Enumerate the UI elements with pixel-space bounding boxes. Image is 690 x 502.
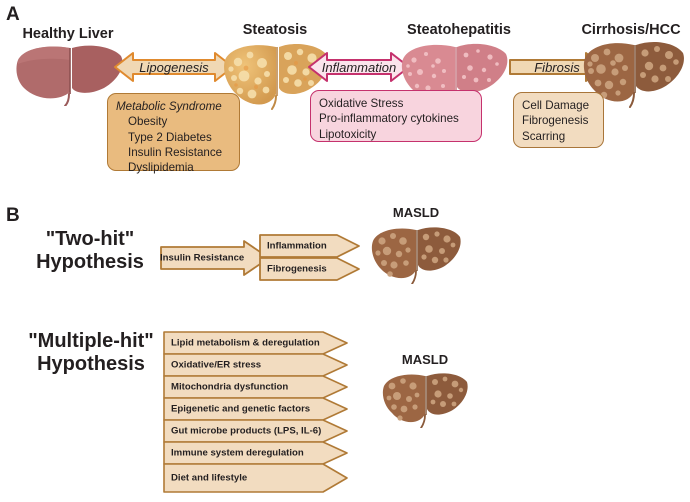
arrow-lipogenesis: Lipogenesis <box>113 50 235 84</box>
multiple-hit-arrow: Oxidative/ER stress <box>163 353 348 377</box>
two-hit-outcome-label: MASLD <box>366 205 466 220</box>
multiple-hit-label: Diet and lifestyle <box>171 473 247 484</box>
inflammation-item: Oxidative Stress <box>319 96 473 111</box>
metabolic-syndrome-item: Insulin Resistance <box>116 145 231 160</box>
multiple-hit-arrow: Immune system deregulation <box>163 441 348 465</box>
multiple-hit-label-line2: Hypothesis <box>12 353 170 376</box>
two-hit-label-line1: "Two-hit" <box>20 228 160 251</box>
multiple-hit-label-line1: "Multiple-hit" <box>12 330 170 353</box>
fibrosis-item: Scarring <box>522 129 595 144</box>
metabolic-syndrome-item: Dyslipidemia <box>116 160 231 175</box>
arrow-fibrosis-label: Fibrosis <box>534 60 580 75</box>
arrow-inflammation-label: Inflammation <box>322 60 396 75</box>
panel-b-letter: B <box>6 205 20 227</box>
stage-title-steatosis: Steatosis <box>215 22 335 38</box>
multiple-hit-label: Epigenetic and genetic factors <box>171 404 310 415</box>
inflammation-item: Pro-inflammatory cytokines <box>319 111 473 126</box>
multiple-hit-label: Lipid metabolism & deregulation <box>171 338 320 349</box>
multiple-hit-label: Oxidative/ER stress <box>171 360 261 371</box>
two-hit-second-label: Inflammation <box>267 241 327 252</box>
stage-title-steatohepatitis: Steatohepatitis <box>389 22 529 38</box>
multiple-hit-arrow: Mitochondria dysfunction <box>163 375 348 399</box>
masld-liver-image-multiple-hit <box>381 368 469 428</box>
inflammation-item: Lipotoxicity <box>319 127 473 142</box>
masld-liver-image-two-hit <box>370 222 462 284</box>
fibrosis-box: Cell Damage Fibrogenesis Scarring <box>513 92 604 148</box>
two-hit-second-label: Fibrogenesis <box>267 264 327 275</box>
arrow-inflammation: Inflammation <box>307 50 411 84</box>
metabolic-syndrome-item: Type 2 Diabetes <box>116 130 231 145</box>
arrow-lipogenesis-label: Lipogenesis <box>139 60 208 75</box>
fibrosis-item: Cell Damage <box>522 98 595 113</box>
multiple-hit-arrow: Diet and lifestyle <box>163 463 348 493</box>
two-hit-second-arrow-inflammation: Inflammation <box>259 234 360 258</box>
two-hit-first-label: Insulin Resistance <box>160 253 244 264</box>
two-hit-hypothesis-label: "Two-hit" Hypothesis <box>20 228 160 274</box>
multiple-hit-outcome-label: MASLD <box>375 352 475 367</box>
multiple-hit-hypothesis-label: "Multiple-hit" Hypothesis <box>12 330 170 376</box>
multiple-hit-label: Gut microbe products (LPS, IL-6) <box>171 426 321 437</box>
metabolic-syndrome-box: Metabolic Syndrome Obesity Type 2 Diabet… <box>107 93 240 171</box>
two-hit-first-arrow: Insulin Resistance <box>160 240 270 276</box>
multiple-hit-arrow: Epigenetic and genetic factors <box>163 397 348 421</box>
multiple-hit-label: Mitochondria dysfunction <box>171 382 288 393</box>
metabolic-syndrome-item: Obesity <box>116 114 231 129</box>
fibrosis-item: Fibrogenesis <box>522 113 595 128</box>
multiple-hit-label: Immune system deregulation <box>171 448 304 459</box>
panel-a-letter: A <box>6 4 20 26</box>
inflammation-box: Oxidative Stress Pro-inflammatory cytoki… <box>310 90 482 142</box>
two-hit-label-line2: Hypothesis <box>20 251 160 274</box>
multiple-hit-arrow: Gut microbe products (LPS, IL-6) <box>163 419 348 443</box>
metabolic-syndrome-header: Metabolic Syndrome <box>116 99 231 114</box>
two-hit-second-arrow-fibrogenesis: Fibrogenesis <box>259 257 360 281</box>
multiple-hit-arrow: Lipid metabolism & deregulation <box>163 331 348 355</box>
